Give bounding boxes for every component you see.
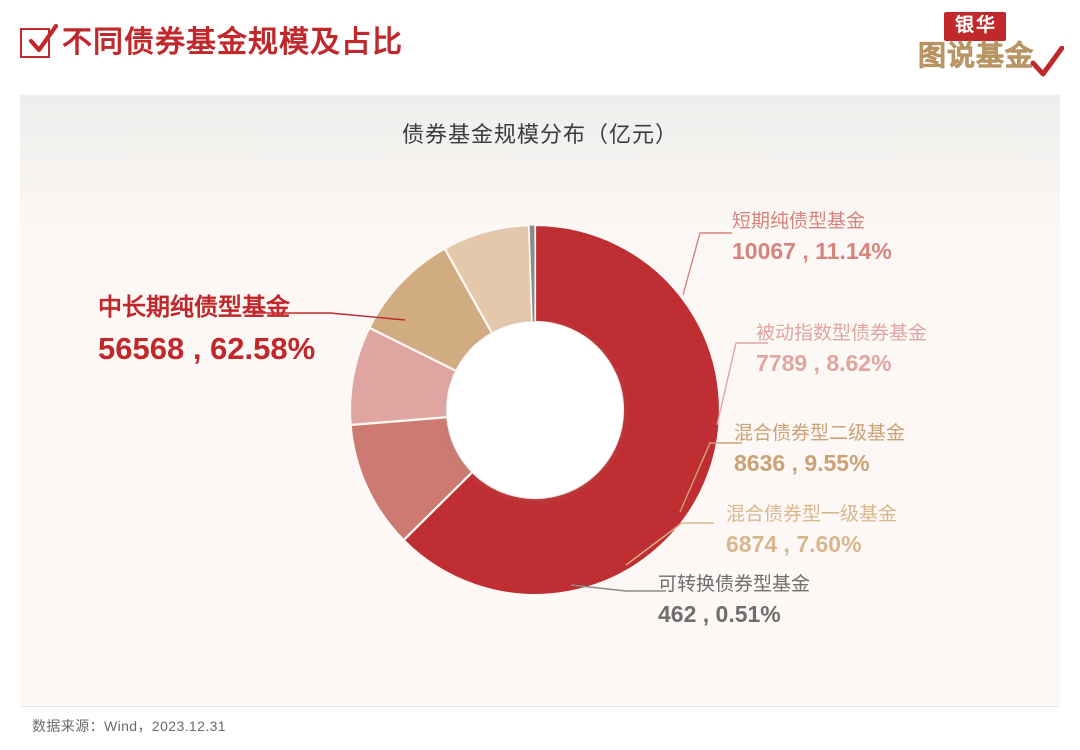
leader-line-short-term <box>683 233 732 295</box>
footer-divider <box>20 706 1060 707</box>
page-title-group: 不同债券基金规模及占比 <box>20 26 403 60</box>
label-name: 中长期纯债型基金 <box>98 293 315 324</box>
data-source-note: 数据来源：Wind，2023.12.31 <box>32 716 226 736</box>
label-convertible-bond: 可转换债券型基金 462 , 0.51% <box>658 573 810 630</box>
label-short-term-pure-bond: 短期纯债型基金 10067 , 11.14% <box>732 210 892 267</box>
donut-center-hole <box>447 322 623 498</box>
logo-main-text: 图说基金 <box>918 40 1034 72</box>
page-title: 不同债券基金规模及占比 <box>62 26 403 60</box>
check-mark-icon <box>1030 46 1064 80</box>
label-value: 56568 , 62.58% <box>98 329 315 369</box>
label-value: 10067 , 11.14% <box>732 237 892 266</box>
logo-badge-text: 银华 <box>944 12 1006 41</box>
checkbox-check-icon <box>20 28 50 58</box>
brand-logo: 银华 图说基金 <box>916 10 1062 84</box>
label-passive-index-bond: 被动指数型债券基金 7789 , 8.62% <box>756 322 927 379</box>
slide-root: 不同债券基金规模及占比 银华 图说基金 债券基金规模分布（亿元） <box>0 0 1080 750</box>
chart-card: 债券基金规模分布（亿元） <box>20 95 1060 705</box>
label-value: 7789 , 8.62% <box>756 349 927 378</box>
label-name: 混合债券型二级基金 <box>734 422 905 446</box>
label-name: 可转换债券型基金 <box>658 573 810 597</box>
label-value: 8636 , 9.55% <box>734 449 905 478</box>
label-hybrid-bond-tier2: 混合债券型二级基金 8636 , 9.55% <box>734 422 905 479</box>
label-name: 被动指数型债券基金 <box>756 322 927 346</box>
label-value: 462 , 0.51% <box>658 600 810 629</box>
donut-chart <box>20 95 1060 705</box>
label-medium-long-term-pure-bond: 中长期纯债型基金 56568 , 62.58% <box>98 293 315 368</box>
header: 不同债券基金规模及占比 银华 图说基金 <box>0 0 1080 92</box>
label-value: 6874 , 7.60% <box>726 530 897 559</box>
label-name: 短期纯债型基金 <box>732 210 892 234</box>
label-name: 混合债券型一级基金 <box>726 503 897 527</box>
label-hybrid-bond-tier1: 混合债券型一级基金 6874 , 7.60% <box>726 503 897 560</box>
